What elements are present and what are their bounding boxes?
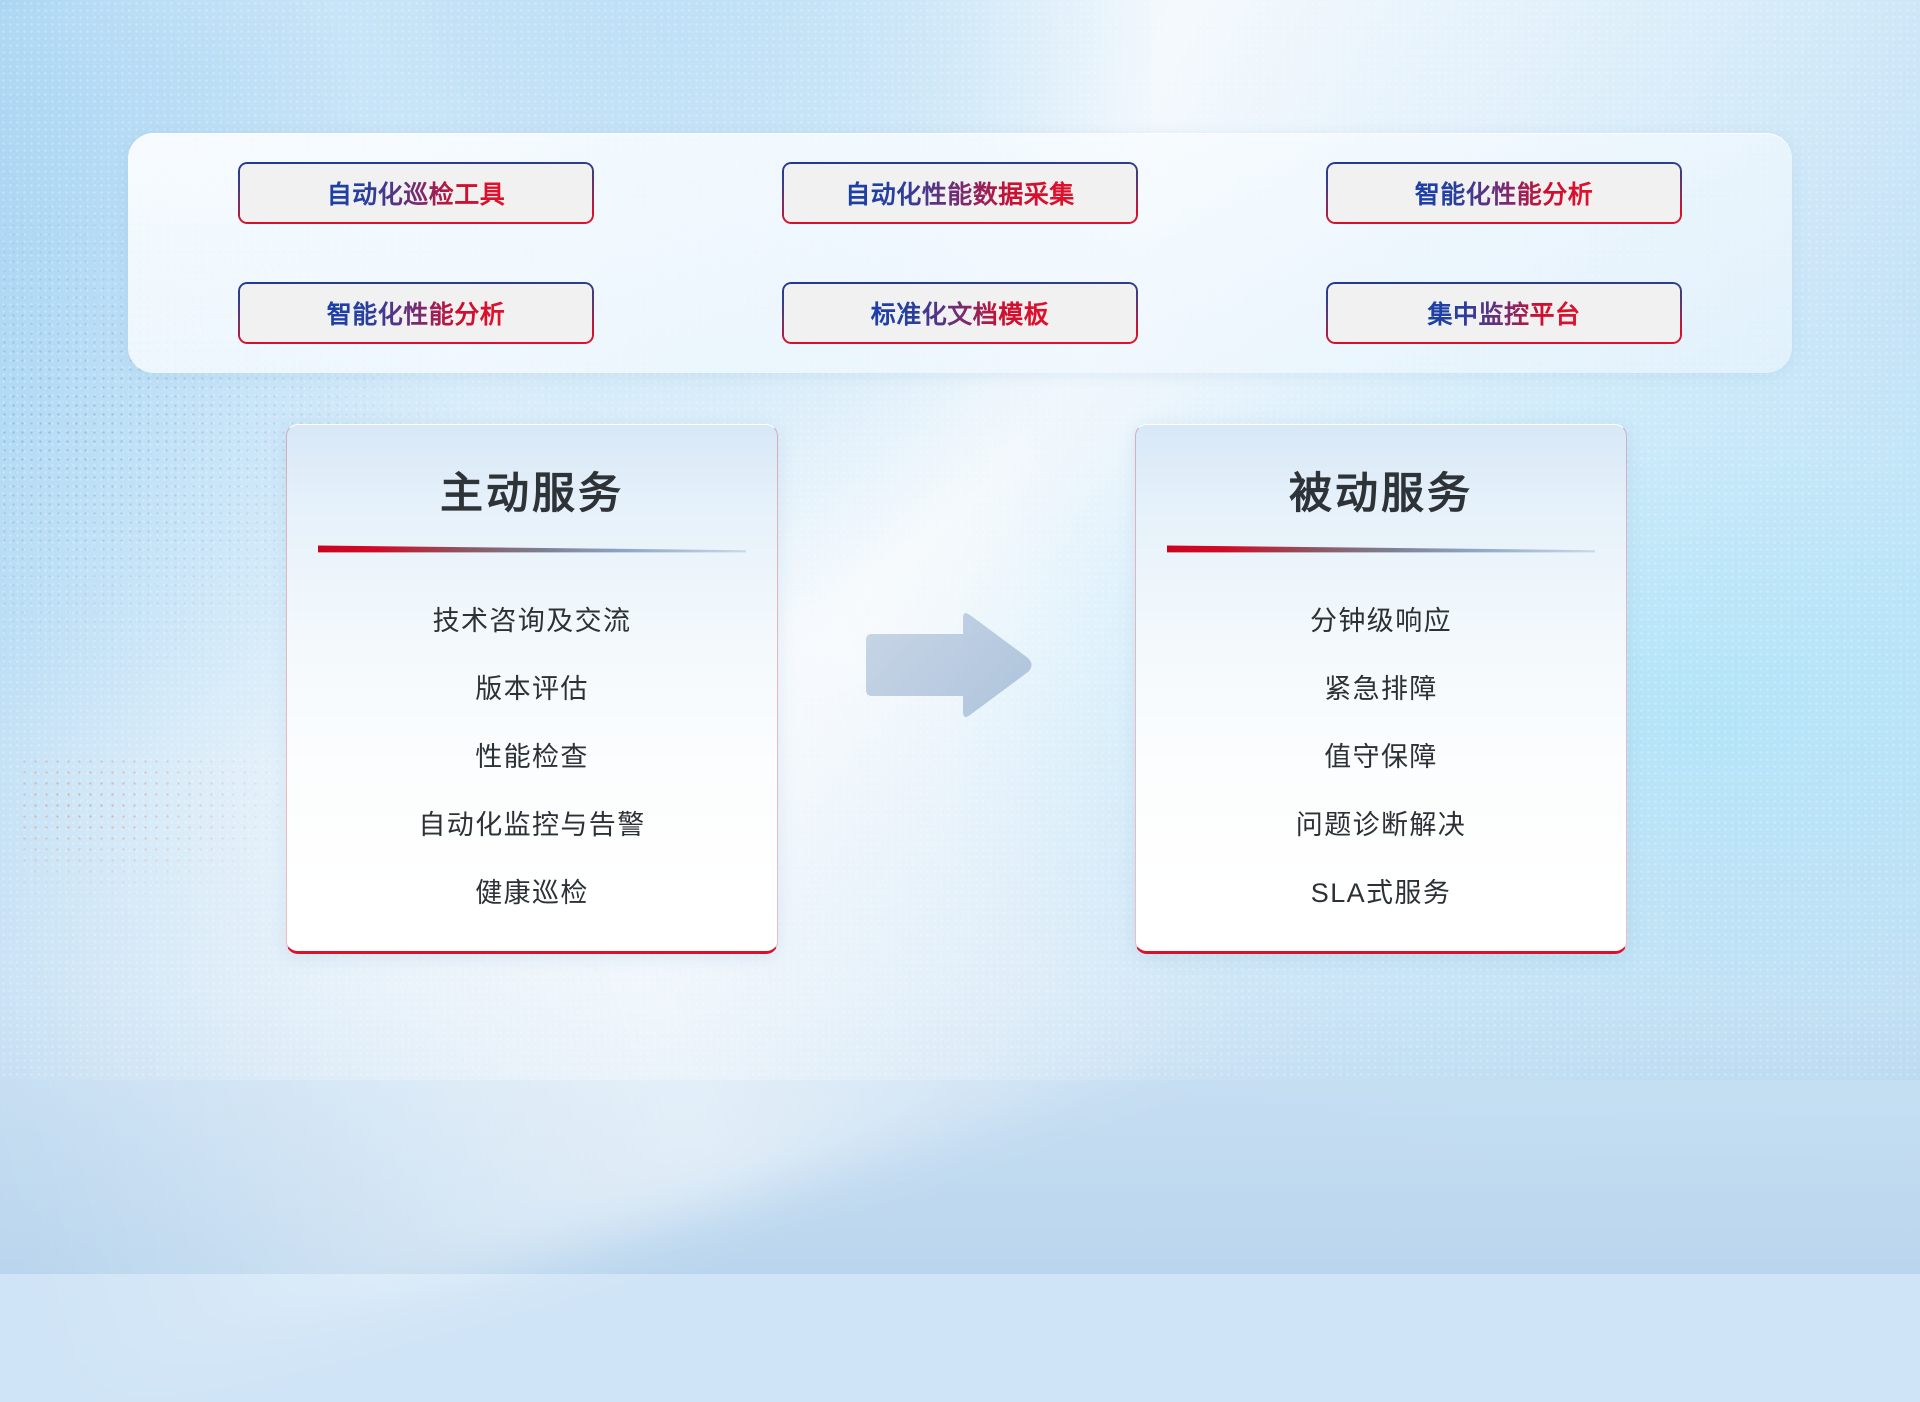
service-list-item: SLA式服务 — [1136, 856, 1626, 924]
service-list-item: 自动化监控与告警 — [287, 788, 777, 856]
capability-tag-label: 集中监控平台 — [1427, 295, 1580, 331]
service-list-item: 版本评估 — [287, 652, 777, 720]
right-arrow-icon — [860, 610, 1035, 722]
capability-tag-label: 智能化性能分析 — [327, 295, 506, 331]
title-underline-accent — [1167, 543, 1595, 554]
service-list-item: 健康巡检 — [287, 856, 777, 924]
capability-tag-label: 自动化巡检工具 — [327, 175, 506, 211]
background-dot-cluster-warm — [19, 756, 326, 907]
service-card-title: 主动服务 — [287, 459, 777, 521]
capability-tag-centralized-monitoring-platform[interactable]: 集中监控平台 — [1326, 282, 1682, 344]
capability-tag-label: 自动化性能数据采集 — [845, 175, 1075, 211]
capability-tags-panel: 自动化巡检工具 自动化性能数据采集 智能化性能分析 智能化性能分析 标准化文档模… — [128, 133, 1792, 373]
service-list-item: 问题诊断解决 — [1136, 788, 1626, 856]
service-item-list: 分钟级响应 紧急排障 值守保障 问题诊断解决 SLA式服务 — [1136, 584, 1626, 924]
service-list-item: 技术咨询及交流 — [287, 584, 777, 652]
service-list-item: 紧急排障 — [1136, 652, 1626, 720]
service-list-item: 分钟级响应 — [1136, 584, 1626, 652]
title-underline-accent — [318, 543, 746, 554]
capability-tag-label: 智能化性能分析 — [1415, 175, 1594, 211]
capability-tag-automation-inspection-tool[interactable]: 自动化巡检工具 — [238, 162, 594, 224]
service-list-item: 性能检查 — [287, 720, 777, 788]
service-list-item: 值守保障 — [1136, 720, 1626, 788]
capability-tag-automation-performance-data-collection[interactable]: 自动化性能数据采集 — [782, 162, 1138, 224]
service-card-active: 主动服务 技术咨询及交流 版本评估 性能检查 自动化监控与告警 健康巡检 — [286, 424, 778, 954]
service-card-title: 被动服务 — [1136, 459, 1626, 521]
service-item-list: 技术咨询及交流 版本评估 性能检查 自动化监控与告警 健康巡检 — [287, 584, 777, 924]
capability-tag-intelligent-performance-analysis-top[interactable]: 智能化性能分析 — [1326, 162, 1682, 224]
capability-tag-intelligent-performance-analysis-bottom[interactable]: 智能化性能分析 — [238, 282, 594, 344]
capability-tag-standardized-document-template[interactable]: 标准化文档模板 — [782, 282, 1138, 344]
service-card-passive: 被动服务 分钟级响应 紧急排障 值守保障 问题诊断解决 SLA式服务 — [1135, 424, 1627, 954]
capability-tag-label: 标准化文档模板 — [871, 295, 1050, 331]
